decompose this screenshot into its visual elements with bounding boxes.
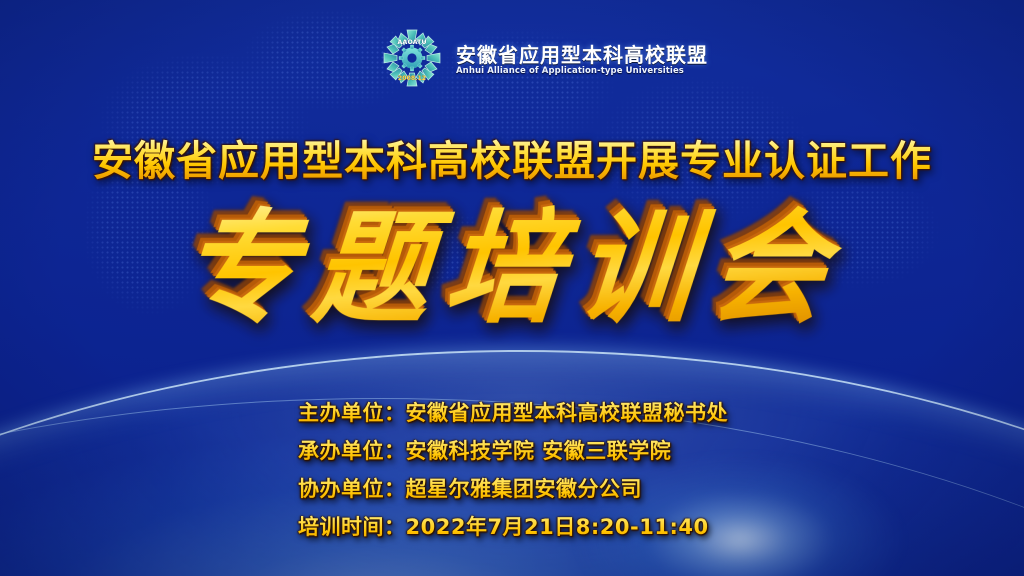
info-value-time: 2022年7月21日8:20-11:40 (406, 515, 709, 539)
organization-logo-lockup: AAOATU 2008.12 安徽省应用型本科高校联盟 Anhui Allian… (378, 26, 708, 90)
info-label-organizer: 主办单位： (298, 401, 406, 425)
emblem-bottom-text: 2008.12 (398, 75, 426, 82)
info-line-host: 承办单位：安徽科技学院 安徽三联学院 (298, 432, 818, 470)
slide-headline: 安徽省应用型本科高校联盟开展专业认证工作 (0, 138, 1024, 185)
event-info-list: 主办单位：安徽省应用型本科高校联盟秘书处 承办单位：安徽科技学院 安徽三联学院 … (298, 394, 818, 546)
info-line-organizer: 主办单位：安徽省应用型本科高校联盟秘书处 (298, 394, 818, 432)
info-label-host: 承办单位： (298, 439, 406, 463)
presentation-slide: AAOATU 2008.12 安徽省应用型本科高校联盟 Anhui Allian… (0, 0, 1024, 576)
info-line-coorganizer: 协办单位：超星尔雅集团安徽分公司 (298, 470, 818, 508)
emblem-top-text: AAOATU (397, 38, 426, 46)
info-value-coorganizer: 超星尔雅集团安徽分公司 (406, 477, 643, 501)
info-line-time: 培训时间：2022年7月21日8:20-11:40 (298, 508, 818, 546)
organization-name-cn: 安徽省应用型本科高校联盟 (456, 45, 708, 65)
calligraphy-title: 专题培训会 (176, 201, 848, 339)
organization-name-block: 安徽省应用型本科高校联盟 Anhui Alliance of Applicati… (456, 41, 708, 76)
info-label-coorganizer: 协办单位： (298, 477, 406, 501)
info-label-time: 培训时间： (298, 515, 406, 539)
alliance-emblem-icon: AAOATU 2008.12 (378, 27, 446, 89)
calligraphy-title-container: 专题培训会 (0, 205, 1024, 345)
organization-name-en: Anhui Alliance of Application-type Unive… (456, 67, 708, 76)
info-value-organizer: 安徽省应用型本科高校联盟秘书处 (406, 401, 729, 425)
gear-icon (399, 45, 425, 71)
info-value-host: 安徽科技学院 安徽三联学院 (406, 439, 672, 463)
